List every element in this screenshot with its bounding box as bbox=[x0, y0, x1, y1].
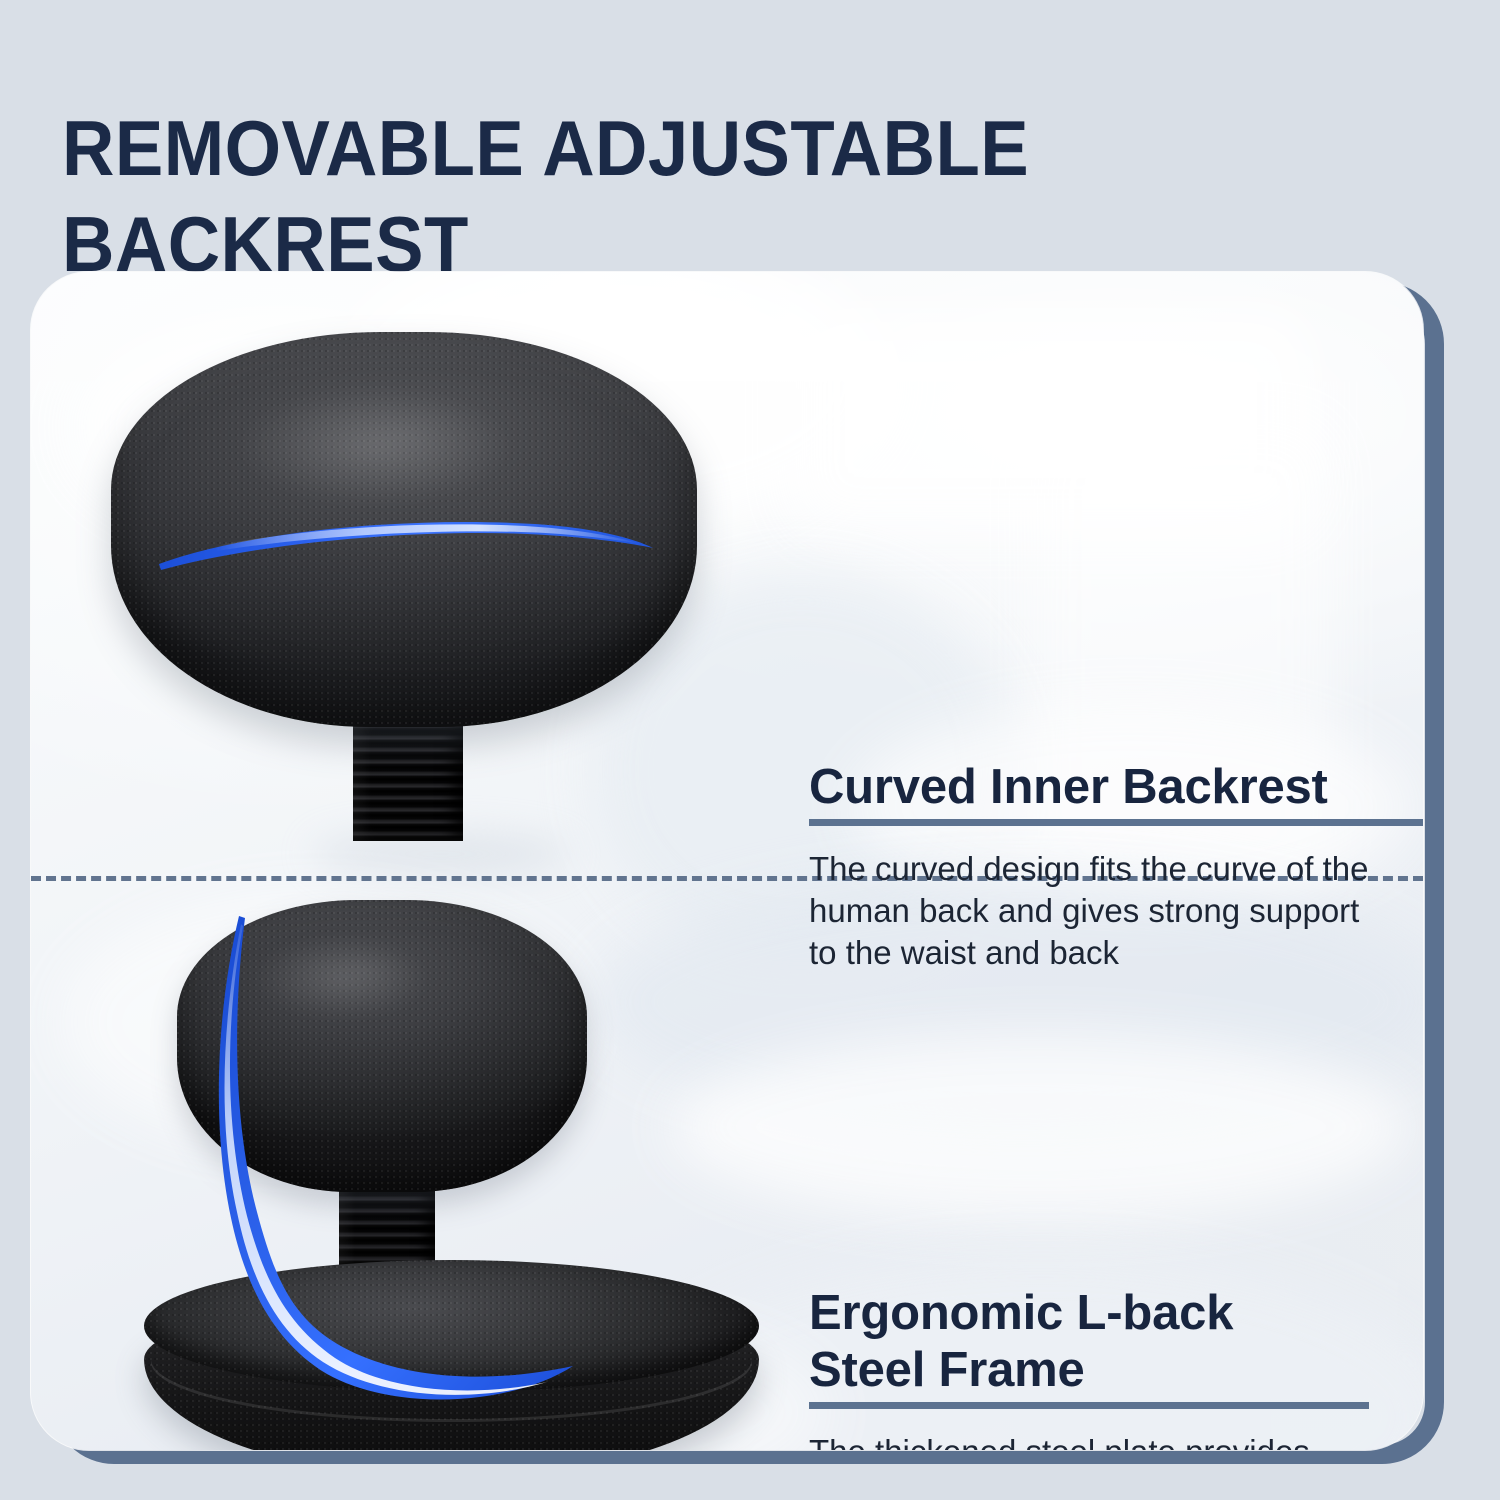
feature-heading-underline bbox=[809, 1402, 1369, 1409]
feature-block-curved-inner-backrest: Curved Inner Backrest The curved design … bbox=[809, 759, 1423, 974]
blue-l-frame-curve bbox=[181, 912, 701, 1450]
feature-description: The curved design fits the curve of the … bbox=[809, 848, 1423, 974]
feature-heading: Curved Inner Backrest bbox=[809, 759, 1423, 816]
feature-heading-underline bbox=[809, 819, 1423, 826]
feature-block-ergonomic-l-back-steel-frame: Ergonomic L-back Steel Frame The thicken… bbox=[809, 1285, 1409, 1450]
feature-heading: Ergonomic L-back Steel Frame bbox=[809, 1285, 1409, 1399]
product-photo-card: Curved Inner Backrest The curved design … bbox=[31, 272, 1423, 1450]
feature-description: The thickened steel plate provides stron… bbox=[809, 1431, 1409, 1450]
page-title: REMOVABLE ADJUSTABLE BACKREST bbox=[62, 100, 1215, 292]
infographic-page: REMOVABLE ADJUSTABLE BACKREST bbox=[0, 0, 1500, 1500]
